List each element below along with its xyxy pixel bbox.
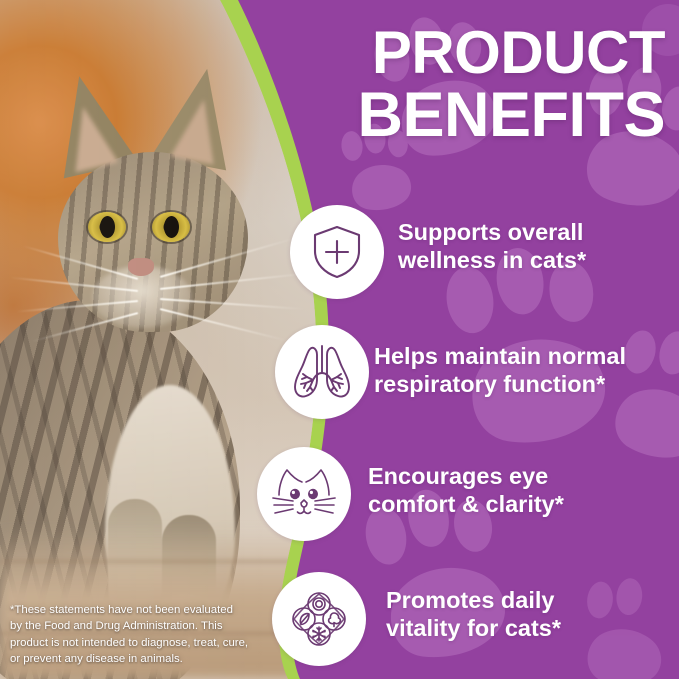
disclaimer-line-1: *These statements have not been evaluate…: [10, 602, 268, 618]
cat-face-icon: [271, 467, 337, 521]
benefit-text-3: Encourages eye comfort & clarity*: [368, 462, 564, 518]
benefit-text-2: Helps maintain normal respiratory functi…: [374, 342, 626, 398]
benefit-icon-bubble-2: [275, 325, 369, 419]
shield-plus-icon: [309, 224, 365, 280]
disclaimer-line-4: or prevent any disease in animals.: [10, 651, 268, 667]
benefit-icon-bubble-4: [272, 572, 366, 666]
disclaimer-line-2: by the Food and Drug Administration. Thi…: [10, 618, 268, 634]
benefits-list: Supports overall wellness in cats* Helps…: [0, 0, 679, 679]
disclaimer-line-3: product is not intended to diagnose, tre…: [10, 635, 268, 651]
disclaimer-text: *These statements have not been evaluate…: [10, 602, 268, 667]
lungs-icon: [291, 343, 353, 401]
four-seasons-botanical-icon: [288, 588, 350, 650]
benefit-text-1: Supports overall wellness in cats*: [398, 218, 586, 274]
product-benefits-poster: PRODUCT BENEFITS Supports overall wellne…: [0, 0, 679, 679]
benefit-icon-bubble-3: [257, 447, 351, 541]
benefit-icon-bubble-1: [290, 205, 384, 299]
benefit-text-4: Promotes daily vitality for cats*: [386, 586, 561, 642]
